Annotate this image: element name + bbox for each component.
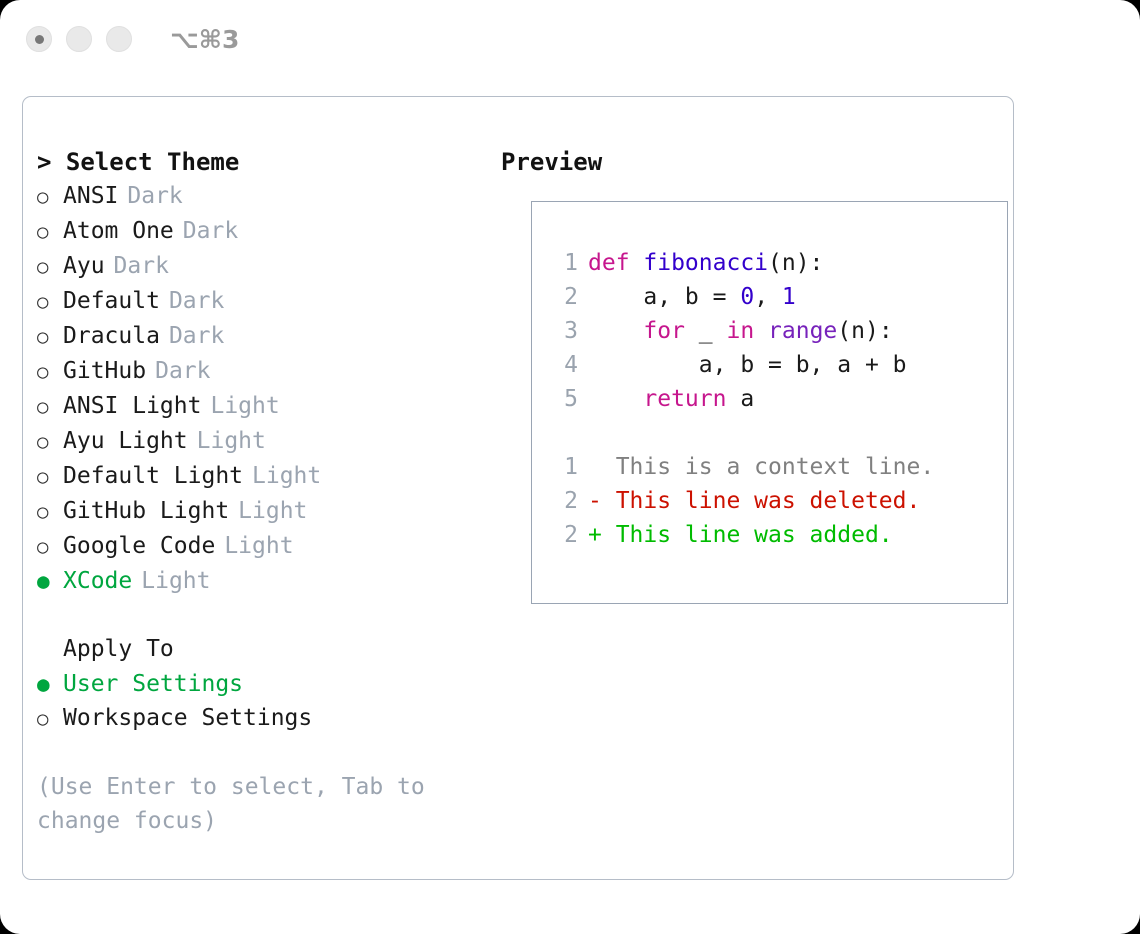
token-pl: (n): [837,318,892,344]
window-dot-second-icon[interactable] [66,26,92,52]
apply-to-heading-marker-spacer: ○ [37,633,63,667]
option-label: User Settings [63,667,243,701]
token-add: + This line was added. [588,522,893,548]
code-line: 4 a, b = b, a + b [546,348,1007,382]
theme-option-atom-one[interactable]: ○Atom OneDark [37,214,487,249]
line-number: 1 [546,450,578,484]
radio-unselected-icon: ○ [37,355,63,389]
radio-unselected-icon: ○ [37,215,63,249]
option-label: Default [63,284,160,318]
option-tag: Light [141,564,210,598]
token-pl [588,386,643,412]
theme-option-list: ○ANSIDark○Atom OneDark○AyuDark○DefaultDa… [37,179,487,598]
option-tag: Light [252,459,321,493]
line-content: This is a context line. [588,450,934,484]
line-number: 3 [546,314,578,348]
theme-option-github[interactable]: ○GitHubDark [37,354,487,389]
radio-selected-icon: ● [37,667,63,701]
line-number: 1 [546,246,578,280]
theme-option-xcode[interactable]: ●XCodeLight [37,564,487,598]
theme-option-ayu[interactable]: ○AyuDark [37,249,487,284]
code-line: 3 for _ in range(n): [546,314,1007,348]
option-tag: Dark [169,284,224,318]
option-tag: Light [224,529,293,563]
theme-option-default-light[interactable]: ○Default LightLight [37,459,487,494]
preview-panel: Preview 1def fibonacci(n):2 a, b = 0, 13… [501,145,1001,179]
app-window: ⌥⌘3 > Select Theme ○ANSIDark○Atom OneDar… [0,0,1140,934]
option-tag: Light [210,389,279,423]
option-label: ANSI Light [63,389,201,423]
token-fn: fibonacci [643,250,768,276]
radio-unselected-icon: ○ [37,390,63,424]
apply-to-heading: Apply To [63,632,174,666]
line-content: def fibonacci(n): [588,246,823,280]
code-line: 1def fibonacci(n): [546,246,1007,280]
token-pl [588,318,643,344]
diff-sample: 1 This is a context line.2- This line wa… [546,450,1007,552]
line-number: 2 [546,280,578,314]
line-number: 5 [546,382,578,416]
preview-box: 1def fibonacci(n):2 a, b = 0, 13 for _ i… [531,201,1008,604]
code-line: 2 a, b = 0, 1 [546,280,1007,314]
code-line: 5 return a [546,382,1007,416]
radio-unselected-icon: ○ [37,460,63,494]
token-kw: in [726,318,754,344]
theme-option-ansi[interactable]: ○ANSIDark [37,179,487,214]
window-dot-active-inner-icon [35,35,44,44]
line-number: 2 [546,518,578,552]
code-diff-spacer [546,416,1007,450]
option-label: Atom One [63,214,174,248]
line-number: 4 [546,348,578,382]
radio-unselected-icon: ○ [37,530,63,564]
token-pl: a, b = [588,284,740,310]
token-pl: , [754,284,782,310]
radio-unselected-icon: ○ [37,320,63,354]
token-num: 1 [782,284,796,310]
radio-unselected-icon: ○ [37,180,63,214]
token-ctx: This is a context line. [588,454,934,480]
theme-option-google-code[interactable]: ○Google CodeLight [37,529,487,564]
keyboard-hint-text: (Use Enter to select, Tab to change focu… [37,770,447,838]
theme-option-ansi-light[interactable]: ○ANSI LightLight [37,389,487,424]
option-label: Workspace Settings [63,701,312,735]
radio-selected-icon: ● [37,564,63,598]
line-content: a, b = 0, 1 [588,280,796,314]
window-dot-third-icon[interactable] [106,26,132,52]
window-dot-active-icon[interactable] [26,26,52,52]
radio-unselected-icon: ○ [37,702,63,736]
code-sample: 1def fibonacci(n):2 a, b = 0, 13 for _ i… [546,246,1007,416]
apply-option-user-settings[interactable]: ●User Settings [37,667,487,701]
radio-unselected-icon: ○ [37,495,63,529]
theme-option-github-light[interactable]: ○GitHub LightLight [37,494,487,529]
apply-option-workspace-settings[interactable]: ○Workspace Settings [37,701,487,736]
line-content: for _ in range(n): [588,314,893,348]
diff-line: 1 This is a context line. [546,450,1007,484]
theme-option-default[interactable]: ○DefaultDark [37,284,487,319]
option-label: GitHub [63,354,146,388]
line-content: + This line was added. [588,518,893,552]
option-label: Ayu Light [63,424,188,458]
apply-to-option-list: ●User Settings○Workspace Settings [37,667,487,736]
option-label: XCode [63,564,132,598]
option-tag: Light [238,494,307,528]
token-pl: (n): [768,250,823,276]
token-del: - This line was deleted. [588,488,920,514]
option-label: GitHub Light [63,494,229,528]
token-num: 0 [740,284,754,310]
radio-unselected-icon: ○ [37,250,63,284]
option-tag: Dark [114,249,169,283]
option-tag: Light [197,424,266,458]
option-label: Google Code [63,529,215,563]
line-number: 2 [546,484,578,518]
line-content: return a [588,382,754,416]
theme-option-ayu-light[interactable]: ○Ayu LightLight [37,424,487,459]
select-theme-heading: > Select Theme [37,145,487,179]
theme-option-dracula[interactable]: ○DraculaDark [37,319,487,354]
diff-line: 2+ This line was added. [546,518,1007,552]
option-label: ANSI [63,179,118,213]
option-label: Ayu [63,249,105,283]
option-tag: Dark [127,179,182,213]
token-pl: a [726,386,754,412]
line-content: a, b = b, a + b [588,348,907,382]
keyboard-shortcut-label: ⌥⌘3 [170,25,239,54]
option-tag: Dark [155,354,210,388]
apply-to-heading-row: ○ Apply To [37,632,487,667]
main-card: > Select Theme ○ANSIDark○Atom OneDark○Ay… [22,96,1014,880]
token-pl [754,318,768,344]
option-tag: Dark [169,319,224,353]
token-bi: range [768,318,837,344]
preview-heading: Preview [501,145,1001,179]
radio-unselected-icon: ○ [37,285,63,319]
line-content: - This line was deleted. [588,484,920,518]
theme-selection-panel: > Select Theme ○ANSIDark○Atom OneDark○Ay… [37,145,487,838]
token-kw: return [643,386,726,412]
option-label: Dracula [63,319,160,353]
token-kw: for [643,318,685,344]
diff-line: 2- This line was deleted. [546,484,1007,518]
token-pl: _ [685,318,727,344]
option-tag: Dark [183,214,238,248]
section-spacer [37,598,487,632]
token-pl: a, b = b, a + b [588,352,907,378]
token-kw: def [588,250,643,276]
option-label: Default Light [63,459,243,493]
radio-unselected-icon: ○ [37,425,63,459]
title-bar: ⌥⌘3 [0,0,1140,78]
